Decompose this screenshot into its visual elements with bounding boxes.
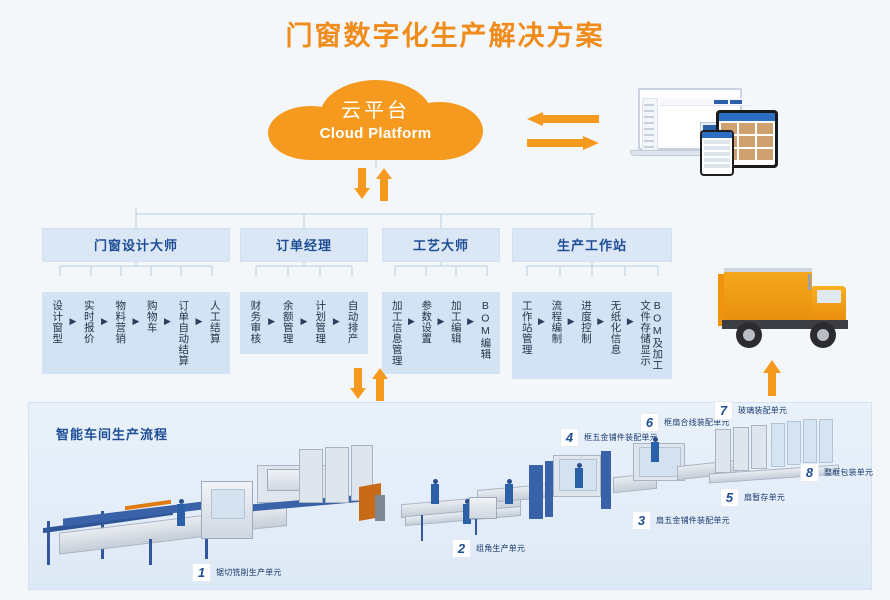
chevron-right-icon: ▶ [333,316,340,327]
module-item[interactable]: 自动排产 [347,300,359,346]
callout-number: 2 [452,539,471,558]
callout-1[interactable]: 1 锯切铣削生产单元 [192,563,282,582]
module-item-multiline[interactable]: 文件存储显示 BOM及加工 [639,300,663,371]
module-item[interactable]: 加工编辑 [450,300,462,366]
module-item[interactable]: 设计窗型 [51,300,63,366]
machine-column [529,465,543,519]
chevron-right-icon: ▶ [408,316,415,327]
chevron-right-icon: ▶ [627,316,634,327]
chevron-right-icon: ▶ [538,316,545,327]
callout-number: 7 [714,401,733,420]
chevron-right-icon: ▶ [301,316,308,327]
module-items: 财务审核 ▶ 余额管理 ▶ 计划管理 ▶ 自动排产 [240,292,368,354]
machine-frame [299,449,323,503]
arrow-right-icon [527,136,599,150]
module-item[interactable]: 加工信息管理 [391,300,403,366]
callout-caption: 整框包装单元 [824,467,873,478]
cloud-label-cn: 云平台 [341,98,410,124]
machine-cabinet [469,497,497,519]
callout-caption: 扇暂存单元 [744,492,785,503]
cloud-label-group: 云平台 Cloud Platform [268,80,483,160]
module-item[interactable]: 人工结算 [209,300,221,366]
module-item-part-b: BOM及加工 [651,300,663,371]
module-item[interactable]: 无纸化信息 [609,300,621,371]
glass-panel [803,419,817,463]
module-item[interactable]: 订单自动结算 [177,300,189,366]
module-item[interactable]: 实时报价 [83,300,95,366]
machine-post [149,539,152,565]
cloud-devices-arrow-pair [527,112,599,156]
callout-number: 1 [192,563,211,582]
cloud-modules-arrow-pair [354,168,400,204]
worker-figure [431,484,439,504]
chevron-right-icon: ▶ [132,316,139,327]
callout-number: 8 [800,463,819,482]
module-item[interactable]: 购物车 [146,300,158,366]
arrow-left-icon [527,112,599,126]
chevron-right-icon: ▶ [597,316,604,327]
callout-number: 5 [720,488,739,507]
callout-number: 3 [632,511,651,530]
glass-panel [787,421,801,465]
arrow-up-icon-truck [763,360,781,396]
module-items: 工作站管理 ▶ 流程编制 ▶ 进度控制 ▶ 无纸化信息 ▶ 文件存储显示 BOM… [512,292,672,379]
module-items: 加工信息管理 ▶ 参数设置 ▶ 加工编辑 ▶ BOM编辑 [382,292,500,374]
callout-7[interactable]: 7 玻璃装配单元 [714,401,787,420]
chevron-right-icon: ▶ [568,316,575,327]
chevron-right-icon: ▶ [101,316,108,327]
rack-slot [715,429,731,473]
callout-8[interactable]: 8 整框包装单元 [800,463,873,482]
chevron-right-icon: ▶ [268,316,275,327]
module-items: 设计窗型 ▶ 实时报价 ▶ 物料营销 ▶ 购物车 ▶ 订单自动结算 ▶ 人工结算 [42,292,230,374]
arrow-up-icon [376,168,392,202]
module-header[interactable]: 订单经理 [240,228,368,262]
callout-caption: 组角生产单元 [476,543,525,554]
machine-window [639,447,681,477]
cloud-label-en: Cloud Platform [320,125,432,142]
machine-post [47,521,50,565]
module-production-workstation[interactable]: 生产工作站 工作站管理 ▶ 流程编制 ▶ 进度控制 ▶ 无纸化信息 ▶ 文件存储… [512,228,672,379]
factory-panel-title: 智能车间生产流程 [56,424,168,443]
cloud-platform-node[interactable]: 云平台 Cloud Platform [268,80,483,160]
callout-caption: 玻璃装配单元 [738,405,787,416]
glass-panel [819,419,833,463]
rack-slot [751,425,767,469]
arrow-down-icon [350,368,366,400]
chevron-right-icon: ▶ [467,316,474,327]
chevron-right-icon: ▶ [69,316,76,327]
callout-number: 4 [560,428,579,447]
module-item-part-a: 文件存储显示 [639,300,651,371]
module-header[interactable]: 工艺大师 [382,228,500,262]
machine-post [421,515,423,541]
module-item[interactable]: 财务审核 [249,300,261,346]
chevron-right-icon: ▶ [438,316,445,327]
worker-figure [575,468,583,488]
chevron-right-icon: ▶ [196,316,203,327]
glass-panel [771,423,785,467]
module-item[interactable]: 余额管理 [282,300,294,346]
callout-caption: 锯切铣削生产单元 [216,567,282,578]
module-item[interactable]: 物料营销 [114,300,126,366]
chevron-right-icon: ▶ [164,316,171,327]
module-item[interactable]: BOM编辑 [479,300,491,366]
module-order-manager[interactable]: 订单经理 财务审核 ▶ 余额管理 ▶ 计划管理 ▶ 自动排产 [240,228,368,354]
devices-mockup [628,84,784,176]
machine-frame [325,447,349,503]
page-title: 门窗数字化生产解决方案 [0,14,890,53]
module-item[interactable]: 计划管理 [314,300,326,346]
callout-5[interactable]: 5 扇暂存单元 [720,488,785,507]
phone-device [700,130,734,176]
module-item[interactable]: 工作站管理 [521,300,533,371]
module-item[interactable]: 进度控制 [580,300,592,371]
module-process-master[interactable]: 工艺大师 加工信息管理 ▶ 参数设置 ▶ 加工编辑 ▶ BOM编辑 [382,228,500,374]
delivery-truck [700,262,858,358]
callout-2[interactable]: 2 组角生产单元 [452,539,525,558]
module-item[interactable]: 参数设置 [420,300,432,366]
module-item[interactable]: 流程编制 [550,300,562,371]
callout-caption: 扇五金铺件装配单元 [656,515,730,526]
worker-figure [505,484,513,504]
worker-figure [177,504,185,526]
modules-factory-arrow-pair [350,368,396,402]
rack-slot [733,427,749,471]
arrow-down-icon [354,168,370,202]
machine-column [545,461,553,517]
arrow-up-icon [372,368,388,400]
module-header[interactable]: 生产工作站 [512,228,672,262]
machine-column [601,451,611,509]
callout-3[interactable]: 3 扇五金铺件装配单元 [632,511,730,530]
machine-window [211,489,245,519]
robot-base [375,495,385,521]
callout-number: 6 [640,413,659,432]
module-header[interactable]: 门窗设计大师 [42,228,230,262]
module-design-master[interactable]: 门窗设计大师 设计窗型 ▶ 实时报价 ▶ 物料营销 ▶ 购物车 ▶ 订单自动结算… [42,228,230,374]
callout-caption: 框五金铺件装配单元 [584,432,658,443]
